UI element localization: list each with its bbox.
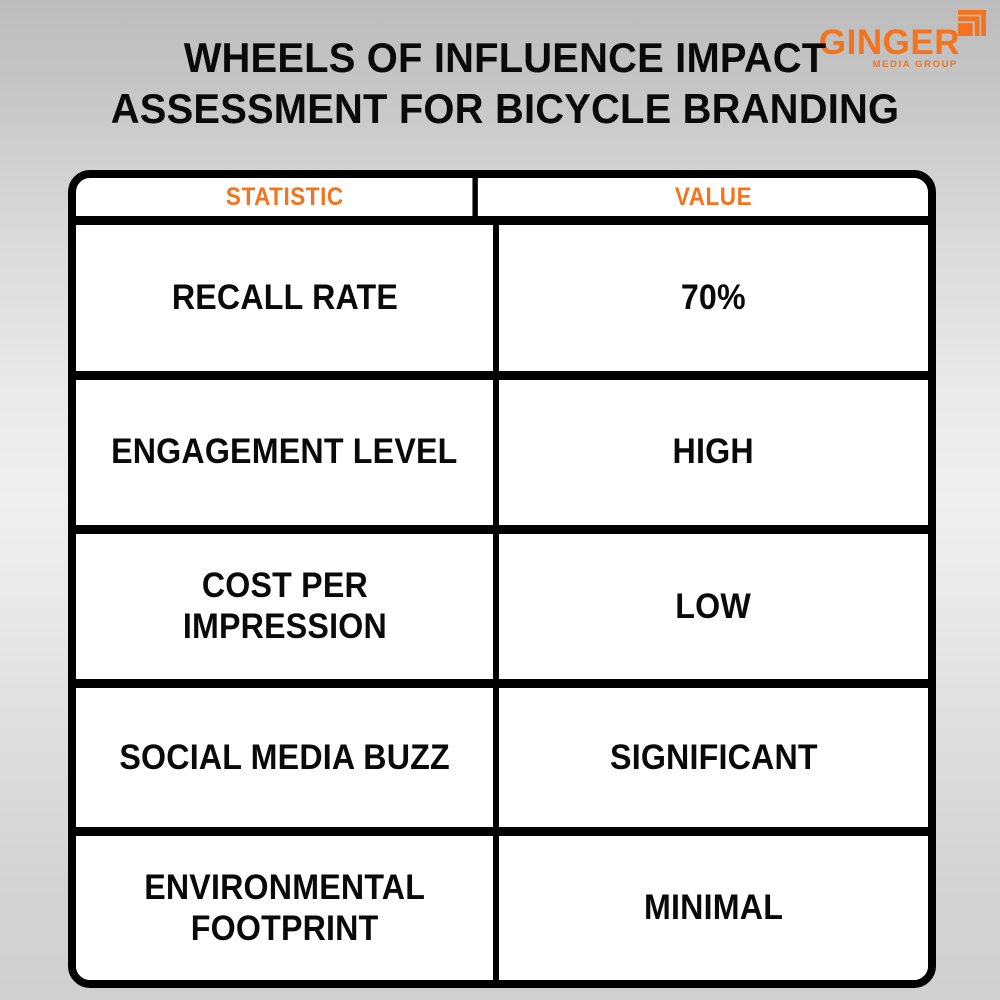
cell-statistic-text: ENVIRONMENTAL FOOTPRINT — [132, 867, 437, 950]
table-row: ENGAGEMENT LEVEL HIGH — [76, 380, 928, 534]
nested-corner-brackets-icon — [956, 10, 986, 38]
cell-value: MINIMAL — [499, 836, 928, 980]
cell-value: 70% — [499, 225, 928, 370]
page-title-line-2: ASSESSMENT FOR BICYCLE BRANDING — [82, 83, 928, 134]
cell-value-text: MINIMAL — [644, 887, 783, 928]
table-row: RECALL RATE 70% — [76, 225, 928, 379]
cell-statistic: COST PER IMPRESSION — [76, 534, 499, 679]
cell-statistic-text-line-1: COST PER — [182, 565, 386, 606]
impact-assessment-table: STATISTIC VALUE RECALL RATE 70% ENGAGEME… — [68, 170, 936, 988]
cell-value-text: HIGH — [673, 431, 754, 472]
cell-statistic-text: ENGAGEMENT LEVEL — [111, 431, 457, 472]
column-header-statistic: STATISTIC — [97, 178, 478, 216]
cell-value-text: SIGNIFICANT — [610, 737, 818, 778]
table-row: COST PER IMPRESSION LOW — [76, 534, 928, 688]
cell-statistic: RECALL RATE — [76, 225, 499, 370]
column-header-statistic-label: STATISTIC — [226, 183, 344, 212]
cell-value-text: 70% — [681, 277, 746, 318]
cell-statistic-text-line-2: FOOTPRINT — [144, 908, 425, 949]
cell-statistic-text: COST PER IMPRESSION — [174, 565, 396, 648]
cell-value: SIGNIFICANT — [499, 688, 928, 827]
cell-statistic: SOCIAL MEDIA BUZZ — [76, 688, 499, 827]
cell-statistic-text: RECALL RATE — [171, 277, 397, 318]
cell-value: HIGH — [499, 380, 928, 525]
page-title: WHEELS OF INFLUENCE IMPACT ASSESSMENT FO… — [82, 32, 928, 134]
cell-value-text: LOW — [676, 586, 752, 627]
cell-statistic-text: SOCIAL MEDIA BUZZ — [119, 737, 449, 778]
column-header-value-label: VALUE — [675, 183, 752, 212]
cell-statistic: ENVIRONMENTAL FOOTPRINT — [76, 836, 499, 980]
cell-statistic-text-line-1: ENVIRONMENTAL — [144, 867, 425, 908]
page-title-line-1: WHEELS OF INFLUENCE IMPACT — [82, 32, 928, 83]
table-row: SOCIAL MEDIA BUZZ SIGNIFICANT — [76, 688, 928, 836]
table-header-row: STATISTIC VALUE — [76, 178, 928, 225]
column-header-value: VALUE — [520, 178, 906, 216]
cell-statistic-text-line-2: IMPRESSION — [182, 606, 386, 647]
infographic-page: GINGER MEDIA GROUP WHEELS OF INFLUENCE I… — [0, 0, 1000, 1000]
cell-value: LOW — [499, 534, 928, 679]
table-row: ENVIRONMENTAL FOOTPRINT MINIMAL — [76, 836, 928, 980]
cell-statistic: ENGAGEMENT LEVEL — [76, 380, 499, 525]
